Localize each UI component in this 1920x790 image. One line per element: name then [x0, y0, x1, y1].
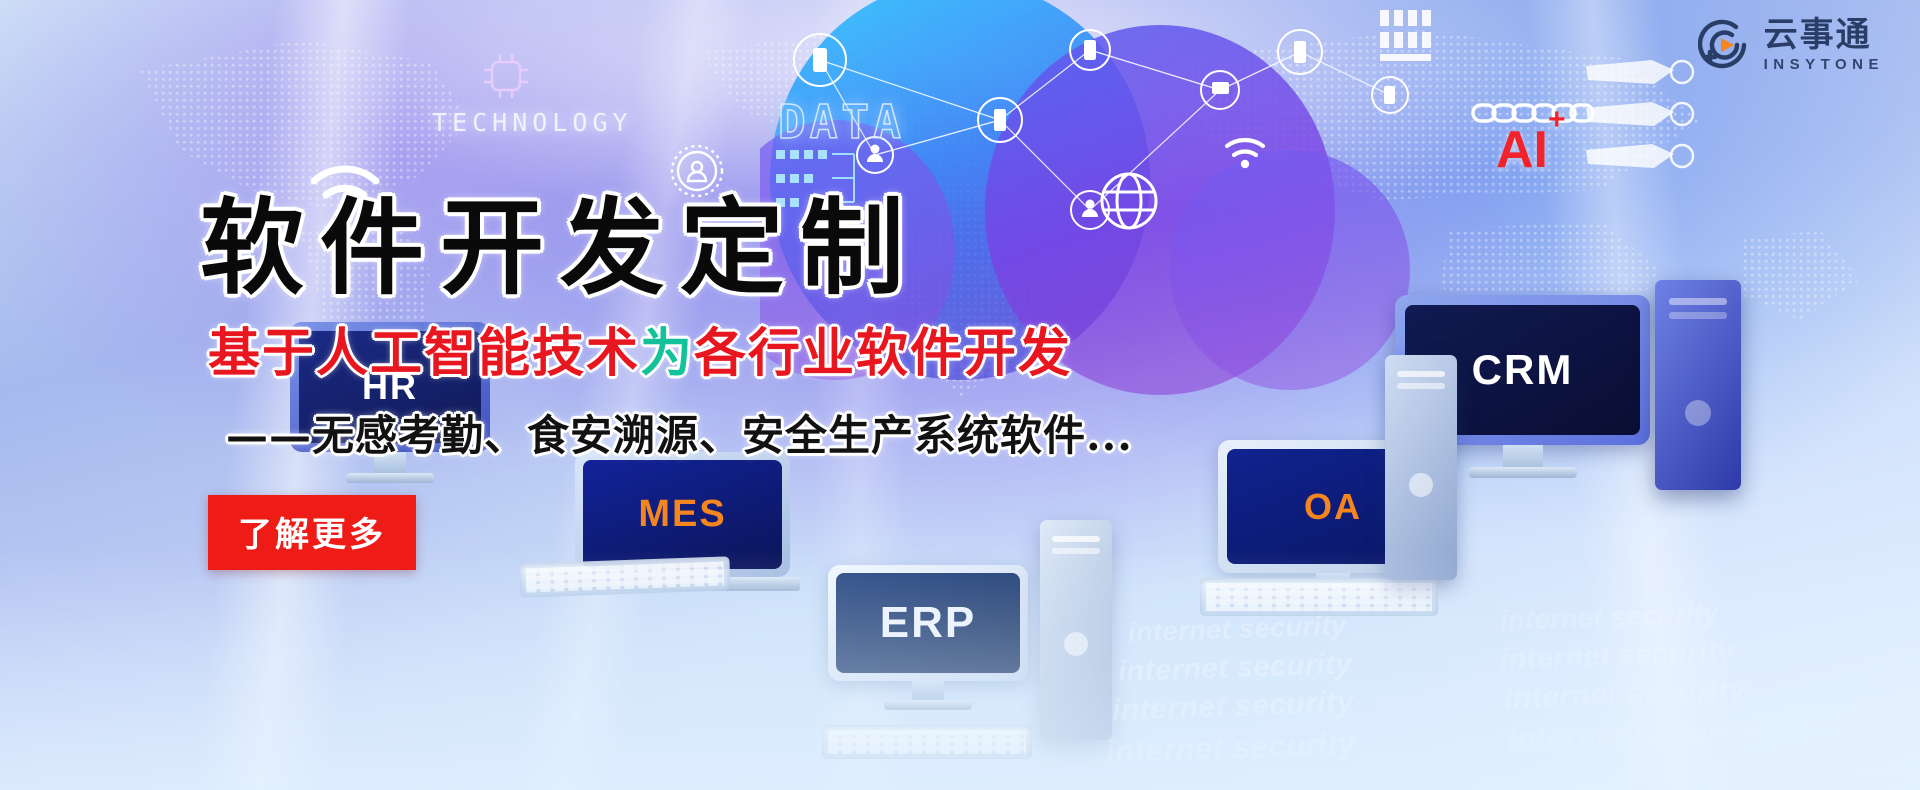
hero-copy: 软件开发定制 基于人工智能技术为各行业软件开发 ——无感考勤、食安溯源、安全生产… [200, 195, 1300, 570]
watermark-text: internet security [1500, 598, 1720, 637]
keyboard-erp [822, 725, 1032, 759]
keyboard-oa [1200, 578, 1438, 616]
brand-logo[interactable]: 云事通 INSYTONE [1698, 18, 1884, 72]
device-crm: CRM [1395, 295, 1650, 485]
watermark-text: internet security [1499, 636, 1734, 677]
hero-subtitle: 基于人工智能技术为各行业软件开发 [208, 311, 1300, 386]
device-erp-label: ERP [880, 598, 976, 648]
learn-more-button[interactable]: 了解更多 [208, 495, 416, 570]
barcode-icon [1378, 8, 1476, 74]
tech-strip-icon [1582, 50, 1702, 180]
wifi-icon [1222, 130, 1268, 170]
play-circle-icon [1698, 18, 1752, 72]
hero-tagline: ——无感考勤、食安溯源、安全生产系统软件... [226, 402, 1300, 463]
logo-name-cn: 云事通 [1764, 18, 1884, 52]
device-erp: ERP [828, 565, 1028, 725]
chip-icon [480, 50, 532, 102]
device-oa-tower [1385, 355, 1457, 580]
watermark-text: internet security [1503, 674, 1746, 716]
background-word-technology: TECHNOLOGY [432, 108, 633, 137]
hero-banner: CRM OA ERP [0, 0, 1920, 790]
ai-plus: + [1548, 103, 1566, 136]
background-word-data: DATA [778, 95, 905, 149]
subtitle-part1: 基于人工智能技术 [208, 323, 640, 384]
subtitle-part2: 各行业软件开发 [694, 323, 1072, 384]
ai-text: AI [1496, 121, 1548, 179]
watermark-text: internet security [1111, 686, 1354, 728]
device-crm-label: CRM [1472, 346, 1574, 394]
device-erp-screen: ERP [836, 573, 1020, 673]
background-word-ai: AI+ [1496, 120, 1566, 180]
device-crm-screen: CRM [1405, 305, 1640, 435]
device-crm-tower [1655, 280, 1741, 490]
logo-name-en: INSYTONE [1764, 57, 1884, 72]
subtitle-accent: 为 [640, 323, 694, 384]
watermark-text: internet security [1507, 714, 1758, 759]
watermark-text: internet security [1117, 648, 1352, 689]
page-title: 软件开发定制 [200, 195, 1300, 301]
logo-text: 云事通 INSYTONE [1764, 18, 1884, 72]
watermark-text: internet security [1105, 726, 1356, 771]
device-oa-label: OA [1304, 486, 1362, 528]
